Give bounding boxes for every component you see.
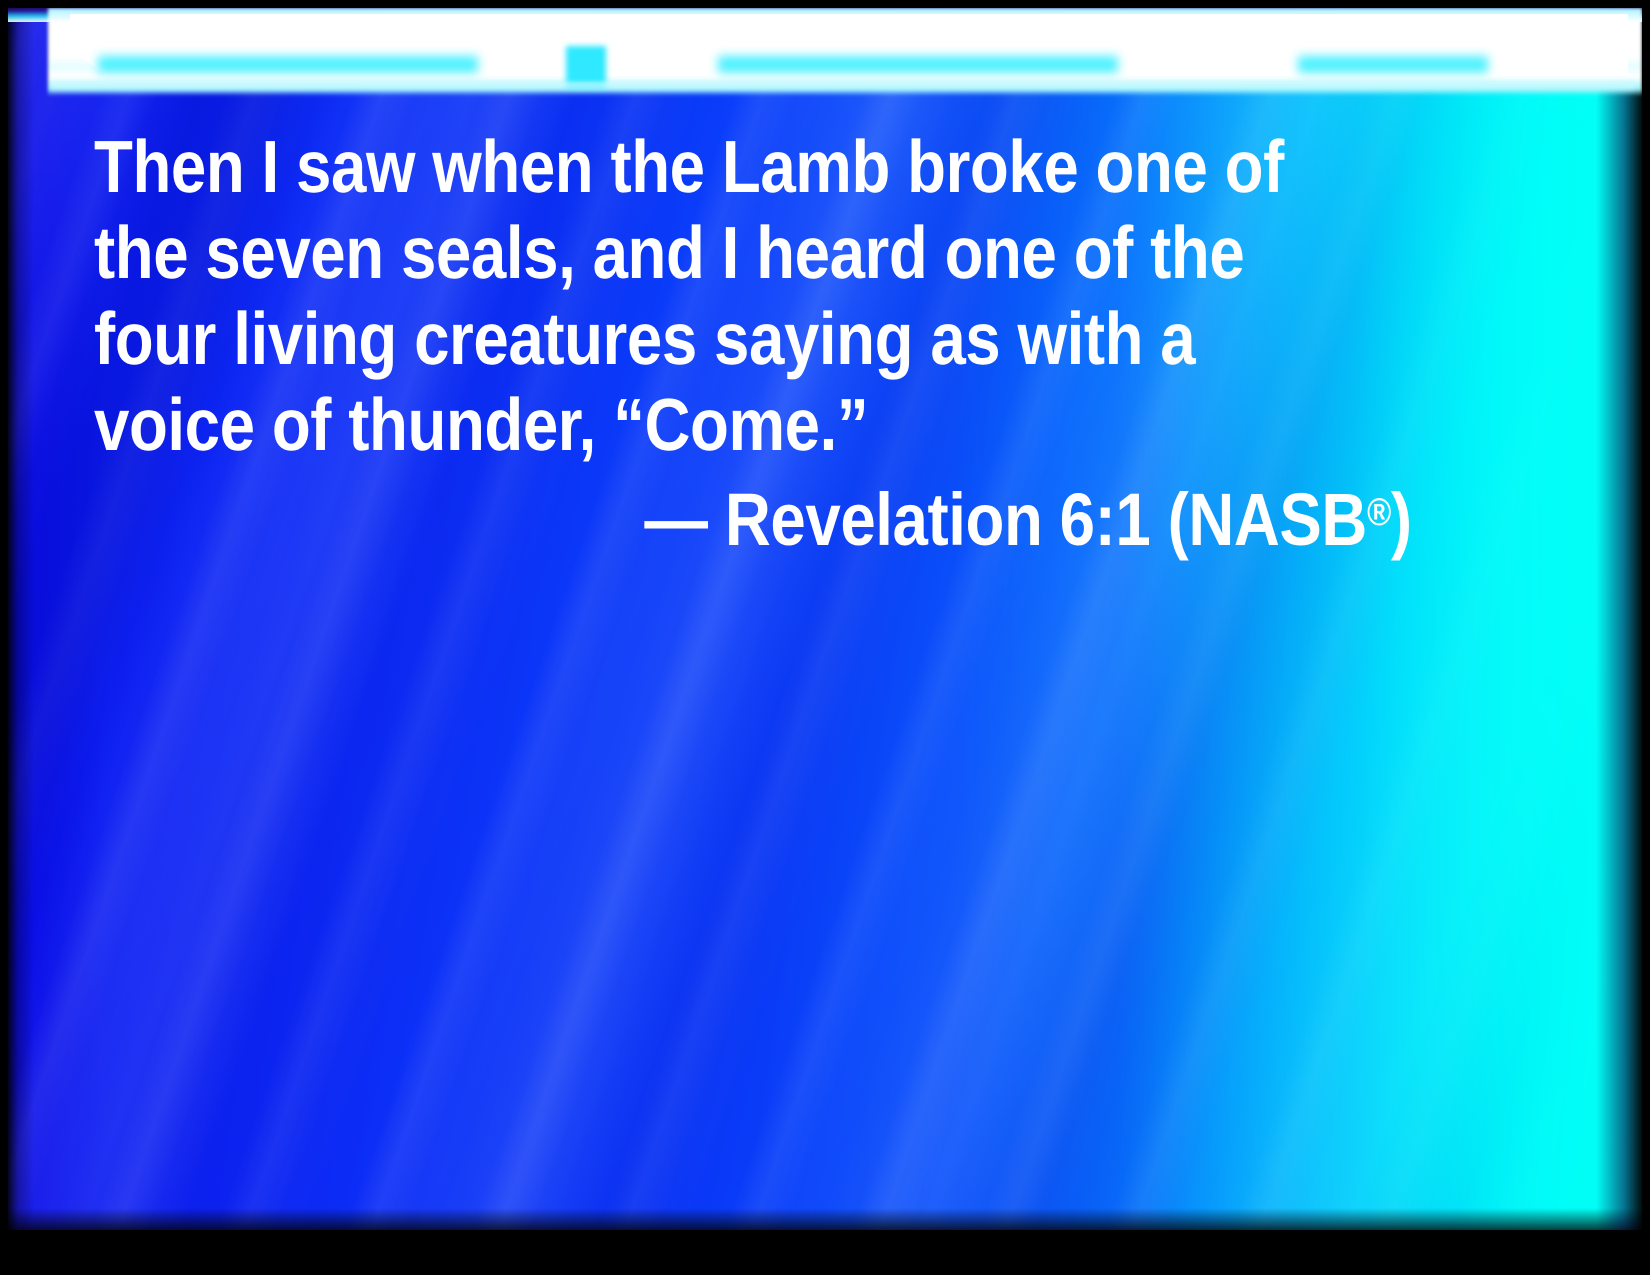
slide-frame: Then I saw when the Lamb broke one of th… <box>8 8 1642 1230</box>
verse-text: Then I saw when the Lamb broke one of th… <box>94 124 1358 468</box>
registered-trademark-icon: ® <box>1367 491 1391 534</box>
verse-slide: Then I saw when the Lamb broke one of th… <box>0 0 1650 1275</box>
attribution-suffix: ) <box>1391 478 1412 561</box>
verse-attribution: — Revelation 6:1 (NASB®) <box>94 470 1556 563</box>
attribution-prefix: — Revelation 6:1 (NASB <box>644 478 1367 561</box>
